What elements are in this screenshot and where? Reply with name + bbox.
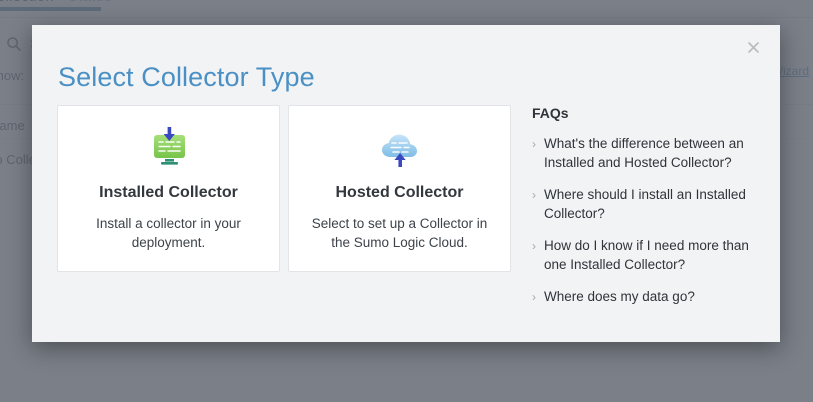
close-icon[interactable] [740, 34, 766, 60]
faqs-title: FAQs [532, 105, 762, 121]
chevron-right-icon: › [532, 237, 544, 255]
cloud-upload-icon [374, 128, 426, 172]
card-installed-collector[interactable]: Installed Collector Install a collector … [57, 105, 280, 272]
faq-item[interactable]: › Where does my data go? [532, 288, 762, 307]
page-title: Select Collector Type [58, 62, 315, 93]
card-title: Installed Collector [99, 184, 238, 202]
card-description: Install a collector in your deployment. [79, 214, 259, 252]
select-collector-type-modal: Select Collector Type [32, 25, 780, 342]
faq-link[interactable]: Where does my data go? [544, 288, 695, 307]
faq-link[interactable]: What's the difference between an Install… [544, 135, 762, 172]
faq-item[interactable]: › What's the difference between an Insta… [532, 135, 762, 172]
faqs-panel: FAQs › What's the difference between an … [532, 105, 762, 321]
faq-link[interactable]: Where should I install an Installed Coll… [544, 186, 762, 223]
card-title: Hosted Collector [335, 184, 463, 202]
chevron-right-icon: › [532, 135, 544, 153]
faq-item[interactable]: › Where should I install an Installed Co… [532, 186, 762, 223]
card-hosted-collector[interactable]: Hosted Collector Select to set up a Coll… [288, 105, 511, 272]
card-description: Select to set up a Collector in the Sumo… [310, 214, 490, 252]
faq-link[interactable]: How do I know if I need more than one In… [544, 237, 762, 274]
chevron-right-icon: › [532, 288, 544, 306]
faq-item[interactable]: › How do I know if I need more than one … [532, 237, 762, 274]
monitor-download-icon [143, 128, 195, 172]
collector-type-cards: Installed Collector Install a collector … [57, 105, 511, 272]
chevron-right-icon: › [532, 186, 544, 204]
app-root: Collection Status Search Setup Wizard Sh… [0, 0, 813, 402]
